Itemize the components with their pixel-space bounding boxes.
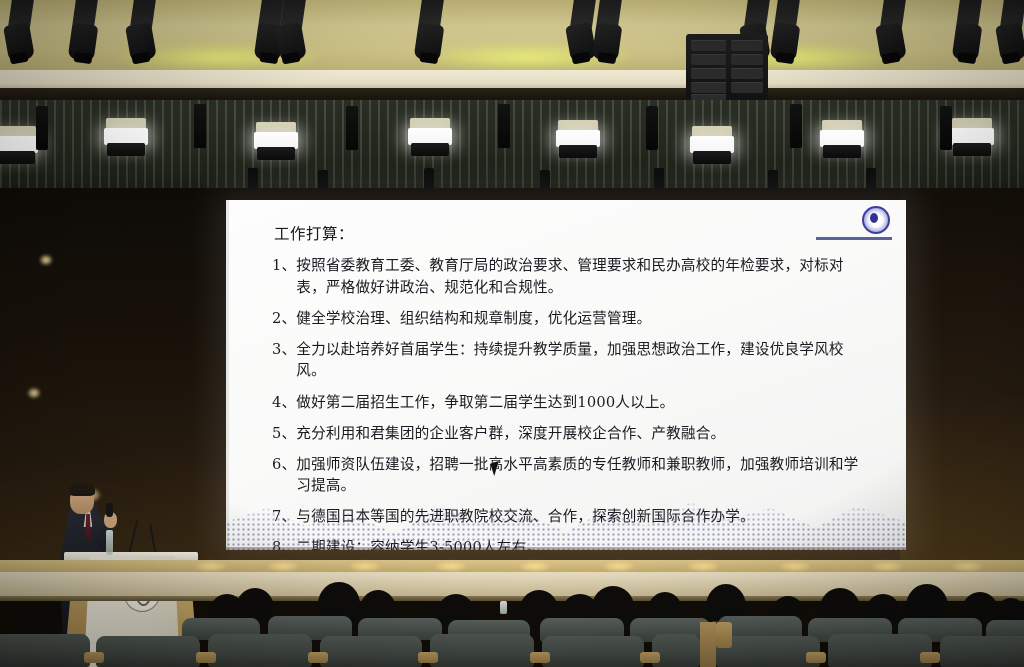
halftone-mountain-decoration bbox=[226, 492, 906, 550]
audience-area bbox=[0, 560, 1024, 667]
stage-light-fixture bbox=[276, 0, 310, 68]
slide-bullet: 1、 按照省委教育工委、教育厅局的政治要求、管理要求和民办高校的年检要求，对标对… bbox=[272, 255, 872, 298]
stage-light-fixture bbox=[414, 0, 448, 68]
auditorium-seat bbox=[208, 634, 312, 667]
truss-hanger bbox=[646, 106, 658, 150]
bullet-number: 6、 bbox=[272, 454, 296, 476]
stage-light-fixture bbox=[996, 0, 1024, 68]
truss-hanger bbox=[498, 104, 510, 148]
seat-armrest bbox=[530, 652, 550, 663]
auditorium-seat bbox=[940, 636, 1024, 667]
auditorium-seat bbox=[542, 636, 644, 667]
seat-armrest bbox=[418, 652, 438, 663]
strip-light bbox=[820, 120, 864, 160]
strip-light bbox=[556, 120, 600, 160]
stage-light-fixture bbox=[4, 0, 38, 68]
bullet-text: 全力以赴培养好首届学生：持续提升教学质量，加强思想政治工作，建设优良学风校风。 bbox=[296, 339, 872, 382]
auditorium-seat bbox=[828, 634, 932, 667]
strip-light bbox=[408, 118, 452, 158]
slide-title: 工作打算： bbox=[274, 226, 872, 243]
seat-armrest bbox=[196, 652, 216, 663]
slide-bullet: 6、 加强师资队伍建设，招聘一批高水平高素质的专任教师和兼职教师，加强教师培训和… bbox=[272, 454, 872, 497]
auditorium-seat bbox=[320, 636, 422, 667]
strip-light bbox=[254, 122, 298, 162]
auditorium-photo: 工作打算： 1、 按照省委教育工委、教育厅局的政治要求、管理要求和民办高校的年检… bbox=[0, 0, 1024, 667]
truss-hanger bbox=[940, 106, 952, 150]
wall-accent-light bbox=[40, 255, 52, 265]
line-array-speaker bbox=[726, 34, 768, 108]
strip-light bbox=[690, 126, 734, 166]
bullet-number: 4、 bbox=[272, 392, 296, 414]
strip-light bbox=[950, 118, 994, 158]
screen-bottom-edge bbox=[226, 547, 906, 550]
strip-light bbox=[104, 118, 148, 158]
projection-screen[interactable]: 工作打算： 1、 按照省委教育工委、教育厅局的政治要求、管理要求和民办高校的年检… bbox=[226, 200, 906, 550]
seat-armrest bbox=[716, 622, 732, 648]
truss-hanger bbox=[36, 106, 48, 150]
stage-side-wall bbox=[900, 188, 1024, 560]
stage-light-fixture bbox=[126, 0, 160, 68]
bullet-number: 3、 bbox=[272, 339, 296, 361]
auditorium-seat bbox=[0, 634, 90, 667]
wall-accent-light bbox=[28, 388, 40, 398]
water-bottle bbox=[106, 530, 113, 555]
stage-light-fixture bbox=[770, 0, 804, 68]
seat-armrest bbox=[640, 652, 660, 663]
strip-light bbox=[0, 126, 38, 166]
truss-hanger bbox=[194, 104, 206, 148]
bullet-text: 加强师资队伍建设，招聘一批高水平高素质的专任教师和兼职教师，加强教师培训和学习提… bbox=[296, 454, 872, 497]
water-bottle bbox=[500, 601, 507, 614]
slide-bullet: 4、 做好第二届招生工作，争取第二届学生达到1000人以上。 bbox=[272, 392, 872, 414]
bullet-number: 2、 bbox=[272, 308, 296, 330]
bullet-text: 做好第二届招生工作，争取第二届学生达到1000人以上。 bbox=[296, 392, 872, 414]
auditorium-seat bbox=[430, 634, 534, 667]
aisle-divider bbox=[700, 622, 716, 667]
slide-bullet: 3、 全力以赴培养好首届学生：持续提升教学质量，加强思想政治工作，建设优良学风校… bbox=[272, 339, 872, 382]
bullet-text: 充分利用和君集团的企业客户群，深度开展校企合作、产教融合。 bbox=[296, 423, 872, 445]
bullet-number: 1、 bbox=[272, 255, 296, 277]
slide-bullet: 2、 健全学校治理、组织结构和规章制度，优化运营管理。 bbox=[272, 308, 872, 330]
truss-hanger bbox=[790, 104, 802, 148]
presenter-glasses bbox=[73, 494, 91, 500]
truss-hanger bbox=[346, 106, 358, 150]
seat-armrest bbox=[920, 652, 940, 663]
handheld-microphone bbox=[106, 503, 113, 517]
seat-armrest bbox=[806, 652, 826, 663]
auditorium-seat bbox=[96, 636, 200, 667]
bullet-number: 5、 bbox=[272, 423, 296, 445]
bullet-text: 健全学校治理、组织结构和规章制度，优化运营管理。 bbox=[296, 308, 872, 330]
slide-bullet: 5、 充分利用和君集团的企业客户群，深度开展校企合作、产教融合。 bbox=[272, 423, 872, 445]
stage-light-fixture bbox=[952, 0, 986, 68]
seat-armrest bbox=[84, 652, 104, 663]
stage-light-fixture bbox=[876, 0, 910, 68]
stage-light-fixture bbox=[68, 0, 102, 68]
bullet-text: 按照省委教育工委、教育厅局的政治要求、管理要求和民办高校的年检要求，对标对表，严… bbox=[296, 255, 872, 298]
seat-armrest bbox=[308, 652, 328, 663]
stage-light-fixture bbox=[592, 0, 626, 68]
